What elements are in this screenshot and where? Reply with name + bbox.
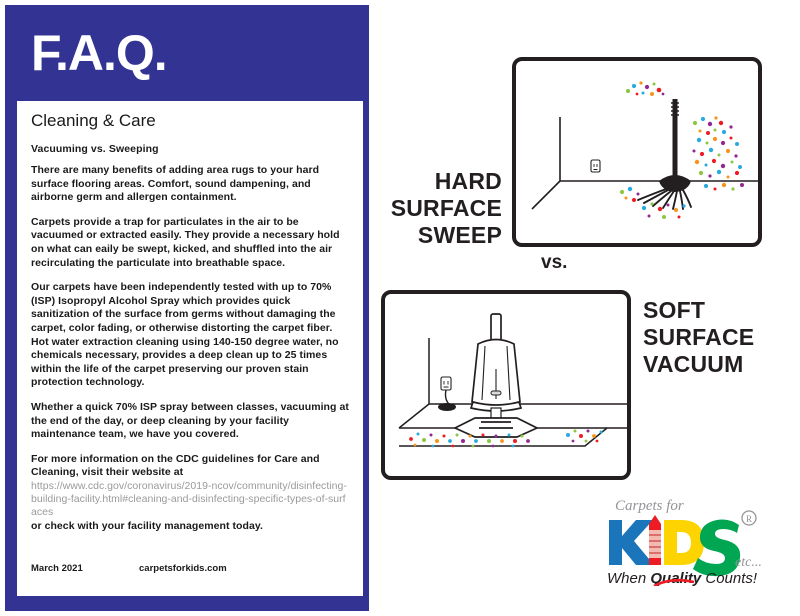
logo-letter-k — [609, 520, 654, 565]
soft-surface-label-line-3: VACUUM — [643, 351, 793, 378]
wall-outlet-icon — [591, 160, 600, 172]
content-card: Cleaning & Care Vacuuming vs. Sweeping T… — [17, 101, 363, 596]
power-cord — [446, 390, 451, 405]
soft-surface-label: SOFT SURFACE VACUUM — [643, 297, 793, 378]
soft-surface-label-line-2: SURFACE — [643, 324, 793, 351]
paragraph-benefits: There are many benefits of adding area r… — [31, 164, 351, 205]
card-title: Cleaning & Care — [31, 111, 351, 131]
logo-tagline-when: When — [607, 570, 650, 586]
broom-icon — [638, 99, 691, 209]
cdc-link[interactable]: https://www.cdc.gov/coronavirus/2019-nco… — [31, 480, 351, 520]
paragraph-trap: Carpets provide a trap for particulates … — [31, 216, 351, 270]
wall-outlet-icon — [441, 377, 451, 390]
carpets-for-kids-logo: Carpets for — [597, 494, 769, 586]
logo-etc: etc... — [735, 555, 762, 570]
paragraph-cdc-tail: or check with your facility management t… — [31, 520, 351, 534]
hard-surface-label: HARD SURFACE SWEEP — [380, 168, 502, 249]
page-title: F.A.Q. — [31, 27, 167, 79]
versus-label: vs. — [541, 252, 567, 274]
left-blue-panel: F.A.Q. Cleaning & Care Vacuuming vs. Swe… — [5, 5, 369, 611]
hard-surface-label-line-2: SURFACE — [380, 195, 502, 222]
content-card-body: Cleaning & Care Vacuuming vs. Sweeping T… — [31, 111, 351, 545]
soft-surface-label-line-1: SOFT — [643, 297, 793, 324]
footer-website[interactable]: carpetsforkids.com — [139, 563, 227, 574]
logo-tagline-bottom: When Quality Counts! — [607, 570, 758, 586]
cord-plug — [438, 403, 456, 411]
hard-surface-label-line-3: SWEEP — [380, 222, 502, 249]
section-subheading: Vacuuming vs. Sweeping — [31, 143, 351, 155]
logo-registered-glyph: R — [746, 514, 752, 524]
hard-surface-label-line-1: HARD — [380, 168, 502, 195]
logo-letter-i-crayon — [649, 515, 661, 565]
vacuum-icon — [455, 314, 537, 437]
logo-tagline-top: Carpets for — [615, 498, 684, 514]
paragraph-coverage: Whether a quick 70% ISP spray between cl… — [31, 401, 351, 442]
footer-date: March 2021 — [31, 563, 83, 574]
paragraph-cdc-lead: For more information on the CDC guidelin… — [31, 453, 351, 480]
paragraph-testing: Our carpets have been independently test… — [31, 281, 351, 390]
faq-flyer-page: F.A.Q. Cleaning & Care Vacuuming vs. Swe… — [0, 0, 800, 616]
hard-surface-illustration — [512, 57, 762, 247]
logo-tagline-counts: Counts! — [701, 570, 758, 586]
soft-surface-illustration — [381, 290, 631, 480]
